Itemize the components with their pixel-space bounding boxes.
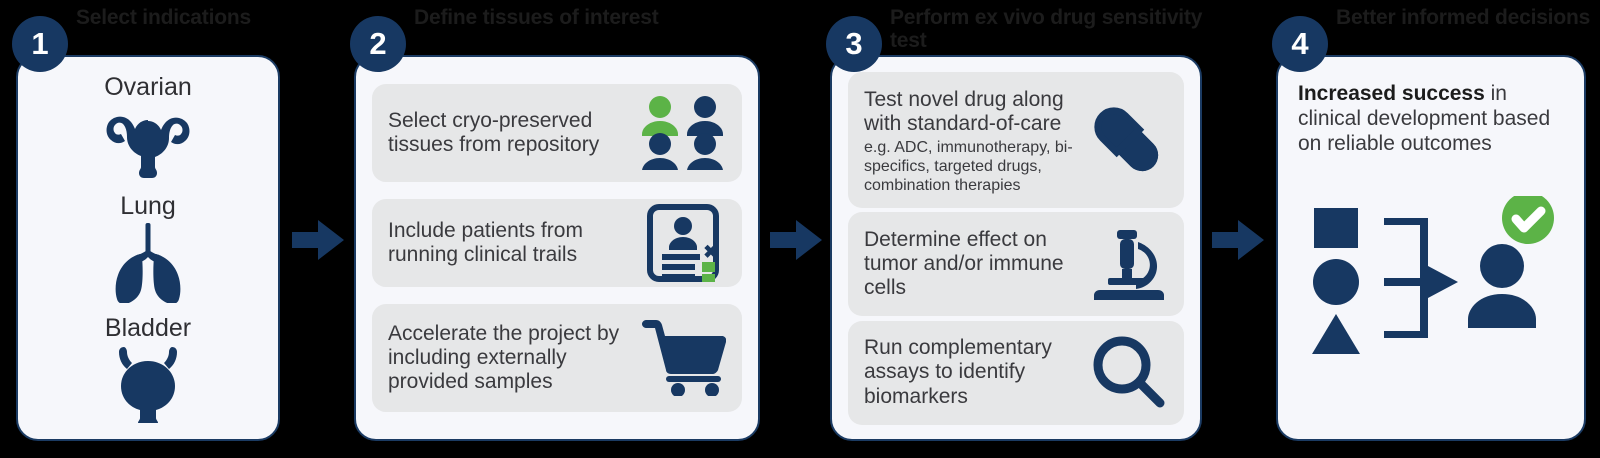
step-title: Perform ex vivo drug sensitivity test [890,6,1210,52]
indication-label: Bladder [105,314,191,343]
step-3: Test novel drug along with standard-of-c… [830,0,1202,458]
step-title: Define tissues of interest [414,6,768,29]
card-include-patients: Include patients from running clinical t… [372,199,742,287]
step-number-badge: 4 [1272,16,1328,72]
shopping-cart-icon [640,320,726,396]
step-2-card-list: Select cryo-preserved tissues from repos… [356,57,758,439]
arrow-step1-to-step2 [292,218,344,267]
indication-lung: Lung [102,192,194,308]
step-2-panel: Select cryo-preserved tissues from repos… [354,55,760,441]
people-group-icon [640,96,726,170]
pill-capsule-icon [1088,101,1168,181]
step-title: Better informed decisions [1336,6,1594,29]
step-4: Increased success in clinical developmen… [1276,0,1586,458]
card-determine-effect: Determine effect on tumor and/or immune … [848,212,1184,316]
step-4-panel: Increased success in clinical developmen… [1276,55,1586,441]
outcome-block: Increased success in clinical developmen… [1278,57,1584,439]
step-number-badge: 1 [12,16,68,72]
card-text: Test novel drug along with standard-of-c… [864,88,1078,136]
arrow-step3-to-step4 [1212,218,1264,267]
indication-ovarian: Ovarian [102,73,194,187]
indication-bladder: Bladder [102,314,194,428]
step-number-badge: 2 [350,16,406,72]
lungs-icon [102,223,194,308]
card-select-tissues: Select cryo-preserved tissues from repos… [372,84,742,182]
step-number-badge: 3 [826,16,882,72]
card-text: Run complementary assays to identify bio… [864,336,1079,408]
step-1-panel: Ovarian Lung [16,55,280,441]
shapes-to-person-success-icon [1298,157,1564,415]
indication-label: Lung [120,192,176,221]
arrow-step2-to-step3 [770,218,822,267]
bladder-icon [102,345,194,428]
step-3-card-list: Test novel drug along with standard-of-c… [832,57,1200,439]
card-text: Include patients from running clinical t… [388,219,636,267]
card-accelerate-project: Accelerate the project by including exte… [372,304,742,412]
workflow-diagram: Ovarian Lung [0,0,1600,458]
card-subtext: e.g. ADC, immunotherapy, bi-specifics, t… [864,139,1078,196]
step-1: Ovarian Lung [16,0,280,458]
card-run-assays: Run complementary assays to identify bio… [848,321,1184,425]
magnifying-glass-icon [1090,335,1168,411]
uterus-ovary-icon [102,104,194,187]
card-text: Accelerate the project by including exte… [388,322,630,394]
step-2: Select cryo-preserved tissues from repos… [354,0,760,458]
microscope-icon [1090,228,1168,300]
outcome-text-bold: Increased success [1298,82,1485,105]
step-3-panel: Test novel drug along with standard-of-c… [830,55,1202,441]
indication-label: Ovarian [104,73,192,102]
card-text: Determine effect on tumor and/or immune … [864,228,1079,300]
card-text: Select cryo-preserved tissues from repos… [388,109,630,157]
outcome-text: Increased success in clinical developmen… [1298,81,1564,157]
id-card-icon [646,204,726,282]
step-title: Select indications [76,6,288,29]
indication-list: Ovarian Lung [18,57,278,439]
card-test-novel-drug: Test novel drug along with standard-of-c… [848,72,1184,208]
